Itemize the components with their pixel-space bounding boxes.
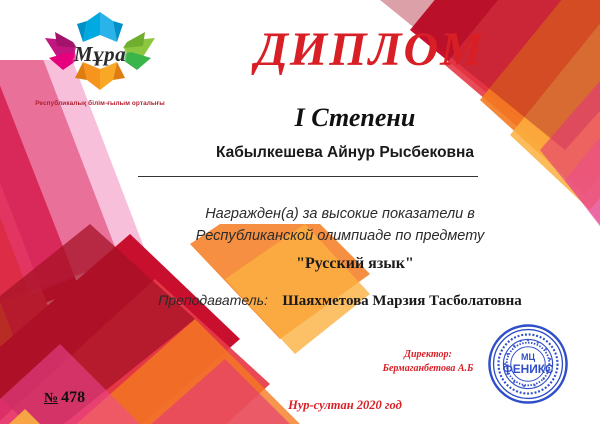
- diploma-certificate: Мұра Республикалық білім-ғылым орталығы …: [0, 0, 600, 424]
- teacher-label: Преподаватель:: [158, 292, 268, 308]
- teacher-row: Преподаватель: Шаяхметова Марзия Тасбола…: [110, 292, 570, 310]
- serial-value: 478: [61, 389, 85, 406]
- seal-inner-main-text: ФЕНИКС: [503, 362, 554, 376]
- subject-name: "Русский язык": [150, 255, 560, 273]
- signature-role: Директор:: [358, 348, 498, 362]
- logo-wordmark: Мұра: [25, 42, 175, 67]
- award-citation: Награжден(а) за высокие показатели в Рес…: [120, 203, 560, 247]
- seal-inner-top-text: МЦ: [521, 352, 535, 362]
- teacher-name: Шаяхметова Марзия Тасболатовна: [282, 293, 521, 309]
- signature-block: Директор: Бермаганбетова А.Б: [358, 348, 498, 376]
- organization-logo: Мұра Республикалық білім-ғылым орталығы: [14, 8, 186, 113]
- award-citation-line-2: Республиканской олимпиаде по предмету: [120, 225, 560, 247]
- recipient-underline: [138, 176, 478, 177]
- recipient-name: Кабылкешева Айнур Рысбековна: [130, 144, 560, 162]
- page-title: ДИПЛОМ: [170, 22, 570, 77]
- serial-number: №478: [44, 389, 85, 407]
- degree-line: I Степени: [150, 103, 560, 133]
- signature-name: Бермаганбетова А.Б: [358, 362, 498, 376]
- place-and-date: Нур-султан 2020 год: [200, 398, 490, 413]
- logo-petal-mark: Мұра: [25, 8, 175, 94]
- official-seal-stamp: МЦ ФЕНИКС: [487, 323, 569, 405]
- number-sign: №: [44, 391, 58, 406]
- award-citation-line-1: Награжден(а) за высокие показатели в: [120, 203, 560, 225]
